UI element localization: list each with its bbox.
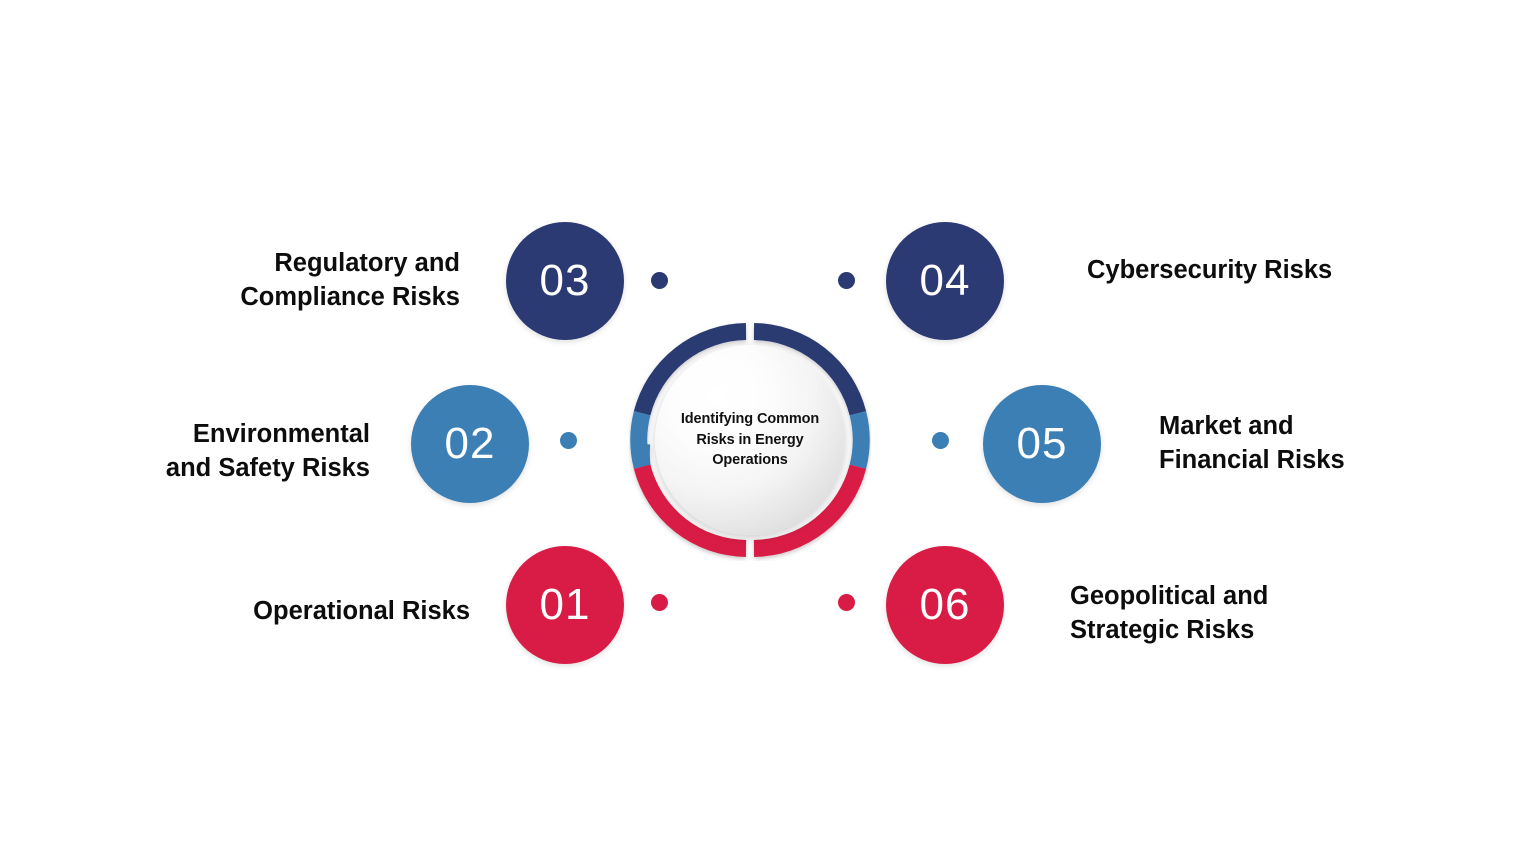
node-number-05: 05	[1017, 419, 1068, 469]
node-label-01: Operational Risks	[120, 595, 470, 629]
node-number-04: 04	[920, 256, 971, 306]
node-number-03: 03	[540, 256, 591, 306]
node-bubble-02[interactable]: 02	[411, 385, 529, 503]
connector-dot-04	[838, 272, 855, 289]
node-bubble-01[interactable]: 01	[506, 546, 624, 664]
center-hub: Identifying Common Risks in Energy Opera…	[629, 319, 871, 561]
node-label-03: Regulatory and Compliance Risks	[100, 247, 460, 314]
node-label-06: Geopolitical and Strategic Risks	[1070, 580, 1470, 647]
node-bubble-06[interactable]: 06	[886, 546, 1004, 664]
node-number-02: 02	[445, 419, 496, 469]
connector-dot-02	[560, 432, 577, 449]
connector-dot-01	[651, 594, 668, 611]
node-bubble-03[interactable]: 03	[506, 222, 624, 340]
connector-dot-05	[932, 432, 949, 449]
node-number-06: 06	[920, 580, 971, 630]
node-label-02: Environmental and Safety Risks	[30, 418, 370, 485]
center-title: Identifying Common Risks in Energy Opera…	[670, 409, 830, 471]
center-title-line-2: Risks in Energy	[670, 430, 830, 451]
connector-dot-03	[651, 272, 668, 289]
node-label-04: Cybersecurity Risks	[1087, 254, 1467, 288]
center-title-line-1: Identifying Common	[670, 409, 830, 430]
node-bubble-04[interactable]: 04	[886, 222, 1004, 340]
node-bubble-05[interactable]: 05	[983, 385, 1101, 503]
node-label-05: Market and Financial Risks	[1159, 410, 1519, 477]
ring-segment-02-arc	[639, 413, 642, 467]
center-title-line-3: Operations	[670, 450, 830, 471]
center-sphere: Identifying Common Risks in Energy Opera…	[655, 345, 845, 535]
ring-segment-05	[858, 413, 861, 467]
infographic-canvas: Identifying Common Risks in Energy Opera…	[0, 0, 1536, 864]
node-number-01: 01	[540, 580, 591, 630]
connector-dot-06	[838, 594, 855, 611]
